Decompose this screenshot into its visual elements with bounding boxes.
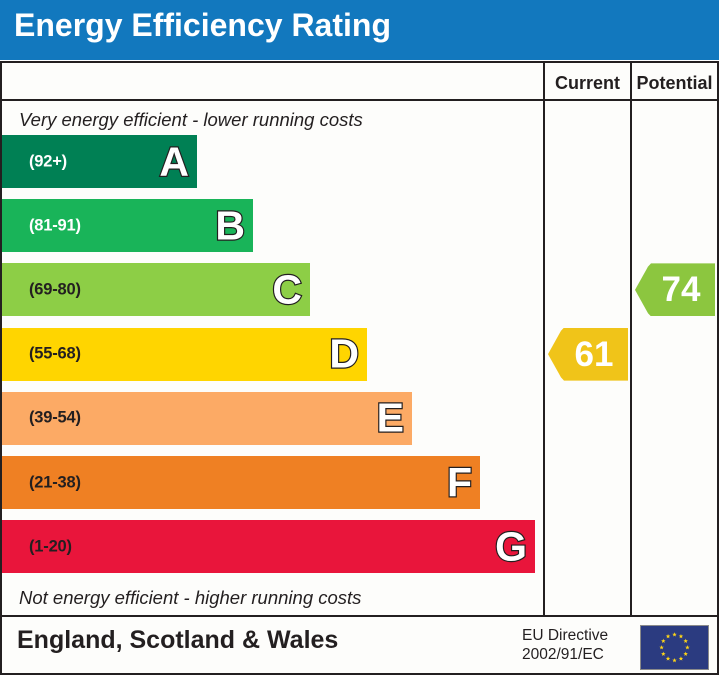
current-rating-arrow: 61 bbox=[548, 328, 628, 381]
band-range-e: (39-54) bbox=[29, 409, 81, 428]
band-bar-b: (81-91) B bbox=[2, 199, 253, 252]
energy-efficiency-rating-chart: Energy Efficiency Rating Current Potenti… bbox=[0, 0, 719, 675]
potential-column-divider bbox=[630, 63, 632, 617]
current-column-divider bbox=[543, 63, 545, 617]
eu-directive-label: EU Directive 2002/91/EC bbox=[522, 626, 632, 664]
band-letter-b: B bbox=[215, 205, 245, 246]
potential-rating-value: 74 bbox=[650, 272, 701, 307]
band-range-g: (1-20) bbox=[29, 537, 72, 556]
chart-title-bar: Energy Efficiency Rating bbox=[0, 0, 719, 60]
band-letter-f: F bbox=[447, 462, 472, 503]
header-row-divider bbox=[2, 99, 717, 101]
band-bar-g: (1-20) G bbox=[2, 520, 535, 573]
band-letter-d: D bbox=[329, 334, 359, 375]
band-range-d: (55-68) bbox=[29, 345, 81, 364]
band-bars-container: (92+) A (81-91) B (69-80) C (55-68) D (3… bbox=[2, 135, 543, 585]
footer-region-label: England, Scotland & Wales bbox=[17, 626, 338, 655]
band-bar-c: (69-80) C bbox=[2, 263, 310, 316]
band-bar-d: (55-68) D bbox=[2, 328, 367, 381]
band-letter-c: C bbox=[272, 269, 302, 310]
potential-rating-arrow: 74 bbox=[635, 263, 715, 316]
rating-table: Current Potential Very energy efficient … bbox=[0, 61, 719, 675]
caption-not-efficient: Not energy efficient - higher running co… bbox=[19, 587, 361, 609]
band-letter-e: E bbox=[377, 398, 404, 439]
current-rating-value: 61 bbox=[563, 337, 614, 372]
band-bar-f: (21-38) F bbox=[2, 456, 480, 509]
band-range-b: (81-91) bbox=[29, 216, 81, 235]
band-range-a: (92+) bbox=[29, 152, 67, 171]
caption-very-efficient: Very energy efficient - lower running co… bbox=[19, 109, 363, 131]
band-letter-a: A bbox=[159, 141, 189, 182]
eu-directive-line2: 2002/91/EC bbox=[522, 645, 632, 664]
band-range-f: (21-38) bbox=[29, 473, 81, 492]
band-range-c: (69-80) bbox=[29, 280, 81, 299]
eu-flag-icon bbox=[640, 625, 709, 670]
band-bar-a: (92+) A bbox=[2, 135, 197, 188]
column-header-current: Current bbox=[545, 71, 630, 97]
band-bar-e: (39-54) E bbox=[2, 392, 412, 445]
band-letter-g: G bbox=[495, 526, 527, 567]
page-title: Energy Efficiency Rating bbox=[14, 7, 391, 44]
footer-row: England, Scotland & Wales EU Directive 2… bbox=[2, 617, 717, 673]
column-header-potential: Potential bbox=[632, 71, 717, 97]
eu-directive-line1: EU Directive bbox=[522, 626, 632, 645]
